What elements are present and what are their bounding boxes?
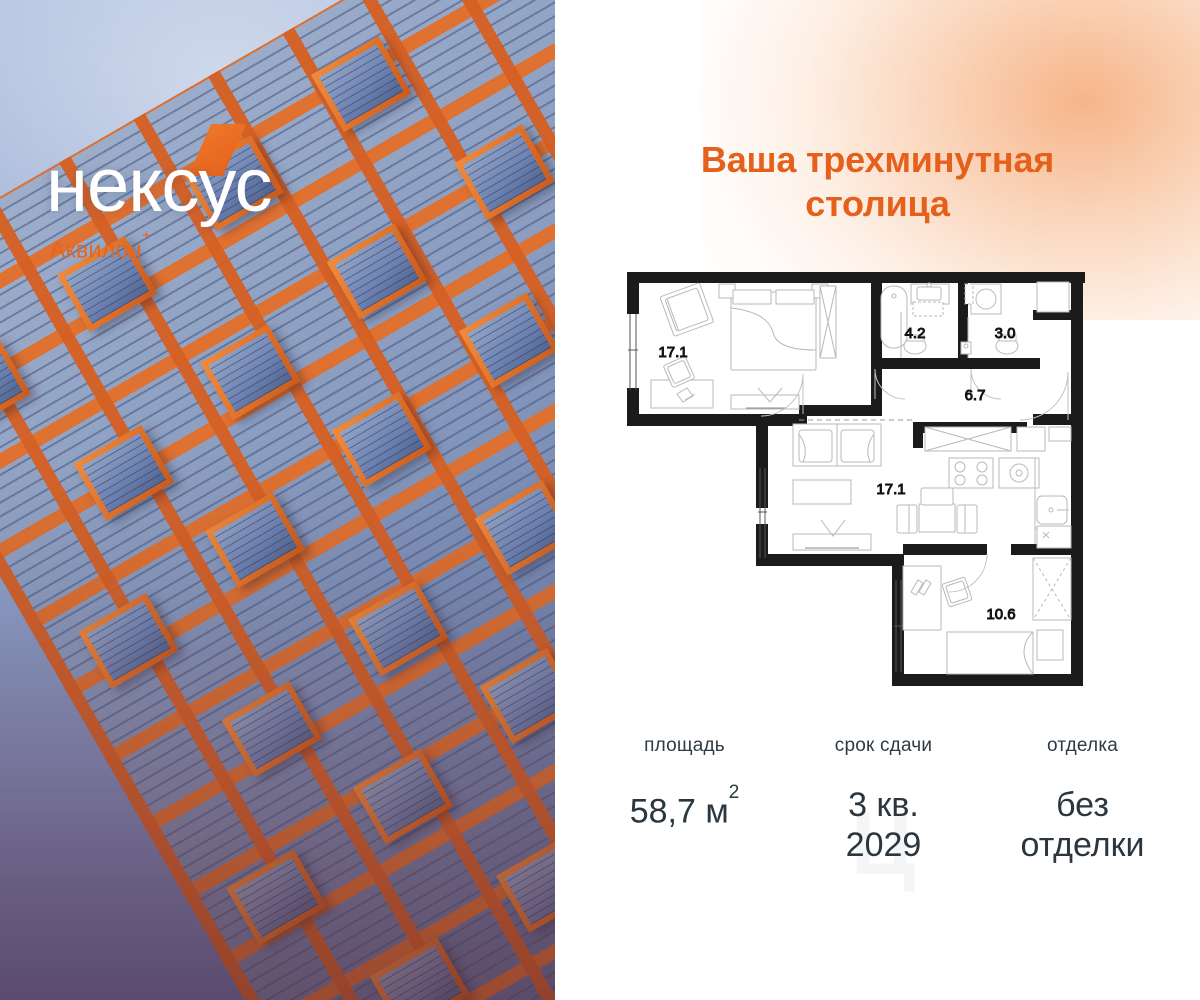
floor-plan-svg: 17.1 4.2 3.0 6.7 17.1 10.6 [613, 262, 1123, 712]
headline-line-2: столица [805, 183, 949, 224]
stat-deadline-line-2: 2029 [846, 826, 922, 864]
stat-area-superscript: 2 [729, 782, 740, 803]
stat-area-number: 58,7 м [630, 792, 729, 830]
developer-name-wrapper: Аквилон+ [50, 236, 272, 264]
brand-name: нексус [46, 143, 272, 228]
building-photo: нексус Аквилон+ [0, 0, 555, 1000]
area-label-living-kitchen: 17.1 [876, 481, 905, 498]
headline-line-1: Ваша трехминутная [701, 139, 1054, 180]
stat-finishing-value: без отделки [983, 785, 1182, 865]
developer-superscript: + [142, 227, 151, 244]
stat-finishing: отделка без отделки [983, 735, 1182, 865]
area-label-bathroom: 4.2 [905, 325, 926, 342]
area-label-bedroom-second: 10.6 [986, 606, 1015, 623]
stat-finishing-line-1: без [1056, 786, 1109, 824]
stat-deadline-line-1: 3 кв. [848, 786, 919, 824]
stat-area: площадь 58,7 м2 [585, 735, 784, 865]
info-panel: Ваша трехминутная столица [555, 0, 1200, 1000]
stat-deadline: срок сдачи 3 кв. 2029 [784, 735, 983, 865]
stat-finishing-label: отделка [983, 735, 1182, 757]
area-label-wc: 3.0 [995, 325, 1016, 342]
stat-finishing-line-2: отделки [1021, 826, 1145, 864]
stat-area-value: 58,7 м2 [585, 785, 784, 831]
brand-name-wrapper: нексус [46, 148, 272, 224]
stat-deadline-label: срок сдачи [784, 735, 983, 757]
stat-area-label: площадь [585, 735, 784, 757]
page-title: Ваша трехминутная столица [555, 138, 1200, 226]
area-label-hallway: 6.7 [965, 387, 986, 404]
floor-plan: 17.1 4.2 3.0 6.7 17.1 10.6 [613, 262, 1123, 712]
brand-logo: нексус Аквилон+ [46, 148, 272, 264]
area-label-bedroom-main: 17.1 [658, 344, 687, 361]
developer-name: Аквилон [50, 237, 142, 263]
stat-deadline-value: 3 кв. 2029 [784, 785, 983, 865]
stats-row: площадь 58,7 м2 срок сдачи 3 кв. 2029 от… [585, 735, 1182, 865]
advertisement-page: нексус Аквилон+ Ваша трехминутная столиц… [0, 0, 1200, 1000]
